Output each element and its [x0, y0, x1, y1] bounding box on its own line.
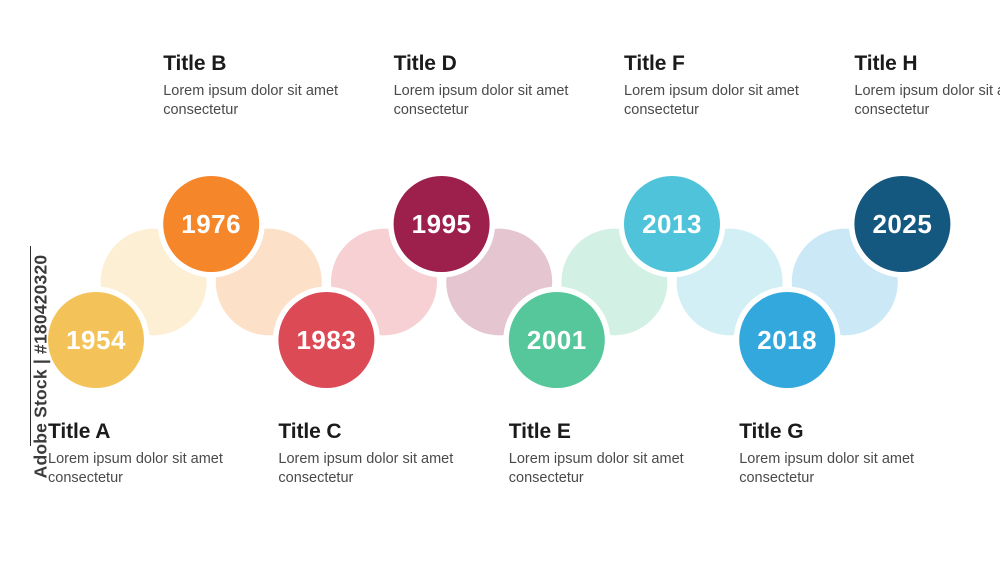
block-title-h: Title H: [854, 52, 1000, 75]
text-block-b: Title BLorem ipsum dolor sit amet consec…: [163, 52, 348, 120]
watermark-label: Adobe Stock | #180420320: [31, 252, 52, 482]
text-block-f: Title FLorem ipsum dolor sit amet consec…: [624, 52, 809, 120]
year-circle-b[interactable]: [163, 176, 259, 272]
text-block-e: Title ELorem ipsum dolor sit amet consec…: [509, 420, 694, 488]
block-description-h: Lorem ipsum dolor sit amet consectetur: [854, 82, 1000, 120]
text-block-d: Title DLorem ipsum dolor sit amet consec…: [394, 52, 579, 120]
year-circle-e[interactable]: [509, 292, 605, 388]
block-description-a: Lorem ipsum dolor sit amet consectetur: [48, 450, 233, 488]
block-description-d: Lorem ipsum dolor sit amet consectetur: [394, 82, 579, 120]
year-circle-h[interactable]: [854, 176, 950, 272]
text-block-c: Title CLorem ipsum dolor sit amet consec…: [278, 420, 463, 488]
block-description-b: Lorem ipsum dolor sit amet consectetur: [163, 82, 348, 120]
year-circle-f[interactable]: [624, 176, 720, 272]
text-block-g: Title GLorem ipsum dolor sit amet consec…: [739, 420, 924, 488]
year-circle-g[interactable]: [739, 292, 835, 388]
year-circle-c[interactable]: [278, 292, 374, 388]
block-title-c: Title C: [278, 420, 463, 443]
block-title-a: Title A: [48, 420, 233, 443]
year-circle-d[interactable]: [394, 176, 490, 272]
block-title-d: Title D: [394, 52, 579, 75]
block-title-b: Title B: [163, 52, 348, 75]
block-description-f: Lorem ipsum dolor sit amet consectetur: [624, 82, 809, 120]
block-description-c: Lorem ipsum dolor sit amet consectetur: [278, 450, 463, 488]
block-description-e: Lorem ipsum dolor sit amet consectetur: [509, 450, 694, 488]
block-title-e: Title E: [509, 420, 694, 443]
block-title-f: Title F: [624, 52, 809, 75]
text-block-a: Title ALorem ipsum dolor sit amet consec…: [48, 420, 233, 488]
year-circle-a[interactable]: [48, 292, 144, 388]
infographic-canvas: 19541976198319952001201320182025 Title A…: [0, 0, 1000, 563]
block-description-g: Lorem ipsum dolor sit amet consectetur: [739, 450, 924, 488]
text-block-h: Title HLorem ipsum dolor sit amet consec…: [854, 52, 1000, 120]
block-title-g: Title G: [739, 420, 924, 443]
